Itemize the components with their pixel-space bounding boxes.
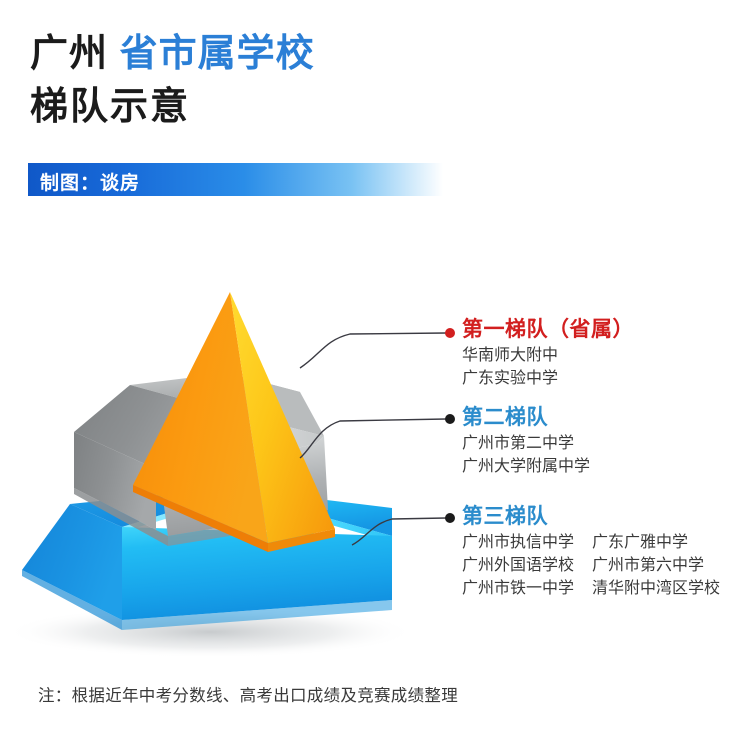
school-name: 华南师大附中 [462, 345, 558, 368]
footnote: 注：根据近年中考分数线、高考出口成绩及竞赛成绩整理 [38, 682, 458, 706]
pyramid-graphic [0, 240, 470, 660]
tier-block-3: 第三梯队 广州市执信中学广东广雅中学 广州外国语学校广州市第六中学 广州市铁一中… [462, 505, 720, 600]
tier-3-title: 第三梯队 [462, 505, 720, 529]
list-item: 广州市第二中学 [462, 433, 590, 456]
list-item: 华南师大附中 [462, 345, 634, 368]
list-item: 广东实验中学 [462, 368, 634, 391]
school-name: 广州市第二中学 [462, 433, 574, 456]
list-item: 广州市执信中学广东广雅中学 [462, 532, 720, 555]
school-name: 广州市执信中学 [462, 532, 592, 555]
page-title-city: 广州 [30, 33, 108, 75]
list-item: 广州外国语学校广州市第六中学 [462, 555, 720, 578]
school-name: 广东实验中学 [462, 368, 558, 391]
school-name: 广州市第六中学 [592, 555, 704, 578]
tier-1-title: 第一梯队（省属） [462, 318, 634, 342]
school-name: 广州外国语学校 [462, 555, 592, 578]
tier-2-school-list: 广州市第二中学 广州大学附属中学 [462, 433, 590, 478]
school-name: 广州大学附属中学 [462, 456, 590, 479]
page-title-category: 省市属学校 [120, 33, 315, 75]
tier-block-2: 第二梯队 广州市第二中学 广州大学附属中学 [462, 406, 590, 479]
page-title-line2: 梯队示意 [30, 88, 190, 126]
list-item: 广州市铁一中学清华附中湾区学校 [462, 578, 720, 601]
school-name: 广州市铁一中学 [462, 578, 592, 601]
credit-bar: 制图：谈房 [28, 163, 443, 196]
school-name: 清华附中湾区学校 [592, 578, 720, 601]
tier-3-school-list: 广州市执信中学广东广雅中学 广州外国语学校广州市第六中学 广州市铁一中学清华附中… [462, 532, 720, 600]
tier-1-school-list: 华南师大附中 广东实验中学 [462, 345, 634, 390]
tier-2-title: 第二梯队 [462, 406, 590, 430]
school-name: 广东广雅中学 [592, 532, 688, 555]
list-item: 广州大学附属中学 [462, 456, 590, 479]
page-title-line1: 广州 省市属学校 [30, 35, 315, 73]
credit-label: 制图：谈房 [40, 168, 140, 195]
tier-block-1: 第一梯队（省属） 华南师大附中 广东实验中学 [462, 318, 634, 391]
